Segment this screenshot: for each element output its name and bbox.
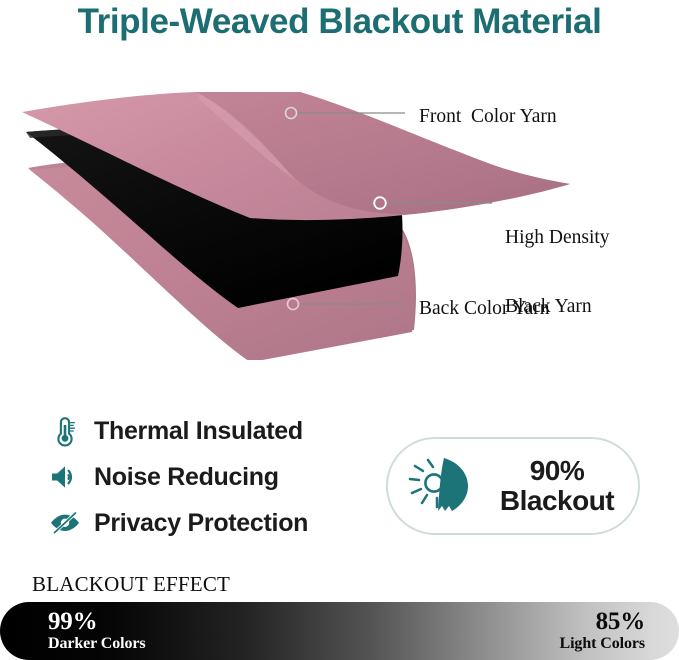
feature-item-privacy-protection: Privacy Protection [44, 500, 364, 546]
blackout-badge-label: Blackout [500, 485, 614, 516]
feature-label-thermal-insulated: Thermal Insulated [94, 417, 303, 446]
blackout-bar-left-label: Darker Colors [48, 635, 146, 653]
page-title: Triple-Weaved Blackout Material [0, 2, 679, 42]
feature-item-thermal-insulated: Thermal Insulated [44, 408, 364, 454]
blackout-bar-right-percent: 85% [560, 608, 645, 635]
callout-label-back-color-yarn: Back Color Yarn [419, 297, 550, 320]
speaker-sound-icon [44, 459, 86, 495]
blackout-badge: 90% Blackout [386, 437, 640, 535]
blackout-bar-left-stat: 99% Darker Colors [48, 608, 146, 653]
callout-label-front-color-yarn: Front Color Yarn [419, 105, 557, 128]
feature-list: Thermal Insulated Noise Reducing Privacy… [44, 408, 364, 546]
blackout-badge-text: 90% Blackout [486, 456, 638, 516]
thermometer-icon [44, 413, 86, 449]
blackout-badge-percent: 90% [530, 455, 585, 486]
callout-label-high-density-line1: High Density [505, 226, 610, 249]
blackout-bar-right-label: Light Colors [560, 635, 645, 653]
sun-behind-curtain-icon [402, 451, 486, 521]
blackout-bar-right-stat: 85% Light Colors [560, 608, 645, 653]
blackout-effect-title: BLACKOUT EFFECT [32, 572, 230, 597]
feature-label-privacy-protection: Privacy Protection [94, 509, 308, 538]
blackout-bar-left-percent: 99% [48, 608, 146, 635]
feature-item-noise-reducing: Noise Reducing [44, 454, 364, 500]
eye-slash-icon [44, 505, 86, 541]
feature-label-noise-reducing: Noise Reducing [94, 463, 279, 492]
blackout-effect-gradient-bar: 99% Darker Colors 85% Light Colors [0, 602, 679, 660]
